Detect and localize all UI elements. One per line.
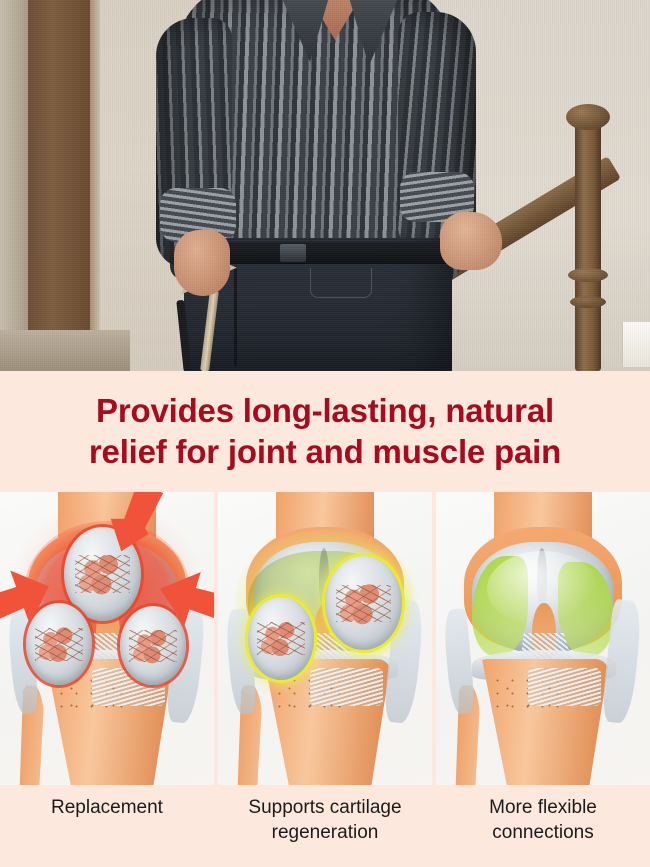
- door-frame-pillar: [28, 0, 90, 371]
- jeans-pocket: [310, 268, 372, 298]
- hand-right: [440, 212, 502, 270]
- jeans-seam: [234, 266, 237, 366]
- magnifier-circle-icon: [325, 556, 402, 650]
- banister-knob: [566, 104, 610, 130]
- magnifier-circle-icon: [248, 597, 314, 679]
- panel-cartilage-regeneration[interactable]: [218, 492, 432, 785]
- panel-damaged-joint[interactable]: [0, 492, 214, 785]
- banister-turning-lower: [570, 296, 606, 308]
- person-figure: [148, 0, 478, 371]
- ligament-fan: [528, 668, 601, 706]
- magnifier-circle-icon: [26, 603, 92, 685]
- knee-joint-diagram-damaged: [0, 492, 214, 785]
- wall-left-shadow: [0, 0, 28, 371]
- caption-cartilage-regeneration: Supports cartilage regeneration: [218, 795, 432, 867]
- banister-turning-upper: [568, 268, 608, 282]
- cartilage-cracks: [129, 630, 177, 662]
- caption-row: Replacement Supports cartilage regenerat…: [0, 785, 650, 867]
- panel-flexible-connections[interactable]: [436, 492, 650, 785]
- caption-replacement: Replacement: [0, 795, 214, 867]
- cartilage-cracks: [336, 585, 391, 623]
- cartilage-cracks: [35, 628, 83, 661]
- baseboard: [0, 330, 130, 371]
- belt-buckle: [280, 244, 306, 262]
- magnifier-circle-icon: [120, 606, 186, 685]
- cartilage-cracks: [75, 555, 130, 593]
- promo-page: Provides long-lasting, natural relief fo…: [0, 0, 650, 867]
- knee-diagram-row: [0, 492, 650, 785]
- hero-photo: [0, 0, 650, 371]
- collateral-ligament-left: [442, 608, 475, 715]
- headline-band: Provides long-lasting, natural relief fo…: [0, 371, 650, 492]
- cartilage-cracks: [257, 622, 305, 655]
- knee-joint-diagram-healing: [218, 492, 432, 785]
- headline-line-2: relief for joint and muscle pain: [89, 432, 561, 472]
- ligament-fan: [310, 668, 383, 706]
- banister-post: [575, 118, 601, 371]
- door-frame-edge: [90, 0, 100, 371]
- caption-flexible-connections: More flexible connections: [436, 795, 650, 867]
- knee-joint-diagram-healthy: [436, 492, 650, 785]
- headline-line-1: Provides long-lasting, natural: [96, 391, 554, 431]
- hand-left: [174, 230, 230, 296]
- light-switch-plate: [622, 322, 650, 367]
